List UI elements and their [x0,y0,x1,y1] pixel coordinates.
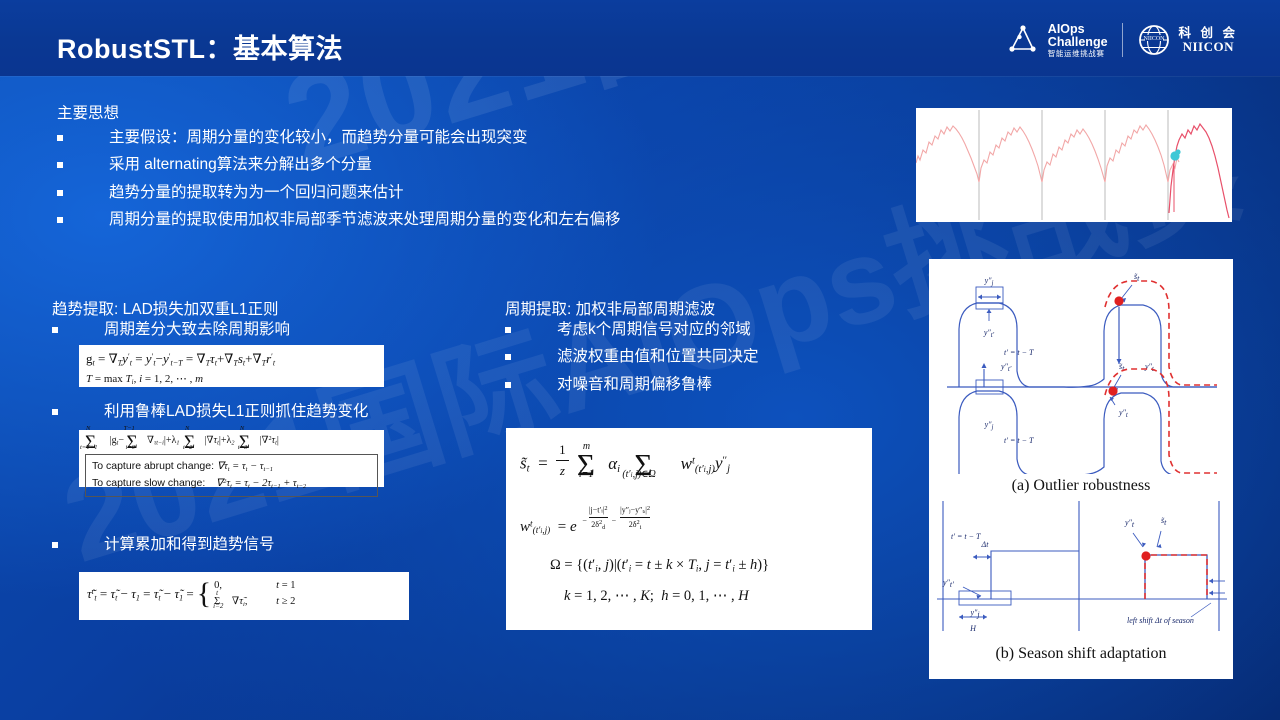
niicon-globe-icon: NIICON [1137,23,1171,57]
trend-formula-1-line2: T = max Ti, i = 1, 2, ⋯ , m [86,371,377,388]
list-item: 主要假设：周期分量的变化较小，而趋势分量可能会出现突变 [57,128,857,148]
trend-formula-1-line1: gt = ∇Ty′t = y′t−y′t−T = ∇Tτt+∇Tst+∇Tr′t [86,349,377,369]
season-formula-line1: s̃t = 1 z Σ i=1 m αi Σ (t′i,j)∈Ω wt(t′i,… [520,440,858,480]
panel-a2-label-ytt: y″t [1118,408,1129,419]
aiops-logo: AIOps Challenge 智能运维挑战赛 [1006,23,1108,58]
trend-formula-3: τ̃rt = τ̃t − τ1 = τ̃t − τ̃1 = { 0,t = 1 … [79,572,409,620]
panel-b-label-st: s̃t [1161,516,1167,527]
panel-a-diagram: y″j y″t′ t′ = t − T s̃t y″t y″t′ y″j t′ … [929,259,1233,474]
niicon-logo-cn: 科 创 会 [1179,27,1238,40]
panel-a2-label-yj: y″j [984,420,994,431]
season-bullet-list: 考虑k个周期信号对应的邻域 滤波权重由值和位置共同决定 对噪音和周期偏移鲁棒 [505,320,905,402]
niicon-logo: NIICON 科 创 会 NIICON [1137,23,1238,57]
panel-a-label-ytt: y″t [1144,362,1155,373]
main-idea-label: 主要思想 [57,101,119,123]
logo-divider [1122,23,1123,57]
seasonal-curve [916,125,1179,182]
panel-a2-label-tprime: t′ = t − T [1004,436,1034,445]
method-illustration-card: y″j y″t′ t′ = t − T s̃t y″t y″t′ y″j t′ … [929,259,1233,679]
seasonal-curve-highlight [1169,124,1229,218]
aiops-logo-line3: 智能运维挑战赛 [1048,50,1108,58]
svg-text:NIICON: NIICON [1143,36,1165,42]
list-item: 滤波权重由值和位置共同决定 [505,347,905,367]
trend-bullet-1: 周期差分大致去除周期影响 [52,320,452,347]
trend-bullet-3: 计算累加和得到趋势信号 [52,535,452,562]
slide-canvas: 2021国际AIOps挑战赛 2021国际AIOps挑战赛 RobustSTL：… [0,0,1280,720]
panel-b-caption: (b) Season shift adaptation [929,645,1233,663]
list-item: 计算累加和得到趋势信号 [52,535,452,555]
trend-formula-2: Σt=T+1N |gt− Σi=0T−1 ∇τt−i|+λ1 Σt=2N |∇τ… [79,430,384,487]
panel-a2-label-ytp: y″t′ [1000,362,1012,373]
trend-section-heading: 趋势提取: LAD损失加双重L1正则 [52,297,279,319]
panel-b-label-tprime: t′ = t − T [951,532,981,541]
trend-formula-3-case2: Σi=2t ∇τ̃i, t ≥ 2 [214,594,295,610]
trend-formula-2-main: Σt=T+1N |gt− Σi=0T−1 ∇τt−i|+λ1 Σt=2N |∇τ… [85,433,378,448]
trend-formula-3-case1: 0,t = 1 [214,578,295,594]
panel-a-caption: (a) Outlier robustness [929,477,1233,495]
panel-a2-dot [1108,386,1117,395]
trend-formula-2-note1: To capture abrupt change: ∇τt = τt − τt−… [92,458,371,475]
list-item: 趋势分量的提取转为为一个回归问题来估计 [57,183,857,203]
panel-b-label-yt: y″t [1124,518,1135,529]
panel-b-dashed-curve [1145,555,1207,599]
niicon-logo-en: NIICON [1179,40,1238,54]
season-formula: s̃t = 1 z Σ i=1 m αi Σ (t′i,j)∈Ω wt(t′i,… [506,428,872,630]
season-formula-line2: wt(t′i,j) = e − |j−t′i|2 2δ2d − |y″j−y″t… [520,504,858,539]
season-formula-line3: Ω = {(t′i, j)|(t′i = t ± k × Ti, j = t′i… [550,555,858,577]
trend-formula-2-note2: To capture slow change: ∇2τt = τt − 2τt−… [92,475,371,492]
logo-group: AIOps Challenge 智能运维挑战赛 NIICON [1006,18,1238,62]
list-item: 采用 alternating算法来分解出多个分量 [57,155,857,175]
panel-a-label-tprime: t′ = t − T [1004,348,1034,357]
season-formula-line4: k = 1, 2, ⋯ , K; h = 0, 1, ⋯ , H [564,586,858,608]
list-item: 周期分量的提取使用加权非局部季节滤波来处理周期分量的变化和左右偏移 [57,210,857,230]
page-title: RobustSTL：基本算法 [57,27,343,66]
panel-b-label-H: H [969,624,977,633]
panel-b-label-delta-t: Δt [981,540,990,549]
list-item: 对噪音和周期偏移鲁棒 [505,375,905,395]
trend-bullet-2: 利用鲁棒LAD损失L1正则抓住趋势变化 [52,402,452,429]
main-bullet-list: 主要假设：周期分量的变化较小，而趋势分量可能会出现突变 采用 alternati… [57,128,857,238]
list-item: 周期差分大致去除周期影响 [52,320,452,340]
seasonal-signal-plot [916,108,1232,222]
panel-a-label-yt: y″t′ [983,328,995,339]
panel-a-label-yj: y″j [984,276,994,287]
aiops-logo-line1: AIOps [1048,23,1108,36]
list-item: 考虑k个周期信号对应的邻域 [505,320,905,340]
panel-a-dot [1114,296,1123,305]
panel-b-diagram: t′ = t − T Δt y″t′ y″j H y″t s̃t [929,499,1233,639]
slide-header: RobustSTL：基本算法 AIOps Challe [0,0,1280,76]
panel-b-annotation-leftshift: left shift Δt of season [1127,616,1194,625]
trend-formula-3-lhs: τ̃rt = τ̃t − τ1 = τ̃t − τ̃1 = [87,584,194,604]
season-section-heading: 周期提取: 加权非局部周期滤波 [505,297,715,319]
list-item: 利用鲁棒LAD损失L1正则抓住趋势变化 [52,402,452,422]
aiops-logo-line2: Challenge [1048,36,1108,49]
trend-formula-1: gt = ∇Ty′t = y′t−y′t−T = ∇Tτt+∇Tst+∇Tr′t… [79,345,384,387]
aiops-logo-icon [1006,23,1040,57]
panel-b-label-ytp: y″t′ [942,578,954,589]
panel-b-dot [1141,551,1150,560]
